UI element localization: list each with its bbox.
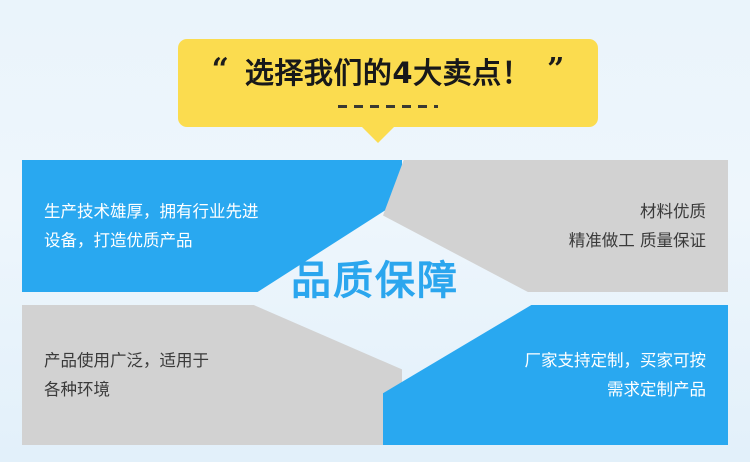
feature-panel-text: 厂家支持定制，买家可按 需求定制产品 [525,346,707,405]
close-quote-icon: ” [547,55,564,85]
dashed-divider [338,105,438,108]
title-ribbon: “ 选择我们的4大卖点！ ” [178,39,598,127]
banner-title: 选择我们的4大卖点！ [245,59,531,88]
ribbon-pointer-icon [361,126,395,143]
feature-panel-bottom-left: 产品使用广泛，适用于 各种环境 [22,305,402,445]
feature-panel-bottom-right: 厂家支持定制，买家可按 需求定制产品 [383,305,728,445]
open-quote-icon: “ [212,55,229,85]
promo-banner: “ 选择我们的4大卖点！ ” 生产技术雄厚，拥有行业先进 设备，打造优质产品 材… [0,0,750,462]
feature-panel-text: 材料优质 精准做工 质量保证 [569,197,706,256]
title-row: “ 选择我们的4大卖点！ ” [178,49,598,97]
feature-panel-text: 生产技术雄厚，拥有行业先进 设备，打造优质产品 [44,197,259,256]
feature-panel-top-left: 生产技术雄厚，拥有行业先进 设备，打造优质产品 [22,160,402,292]
feature-grid: 生产技术雄厚，拥有行业先进 设备，打造优质产品 材料优质 精准做工 质量保证 产… [22,160,728,445]
feature-panel-top-right: 材料优质 精准做工 质量保证 [383,160,728,292]
feature-panel-text: 产品使用广泛，适用于 各种环境 [44,346,209,405]
